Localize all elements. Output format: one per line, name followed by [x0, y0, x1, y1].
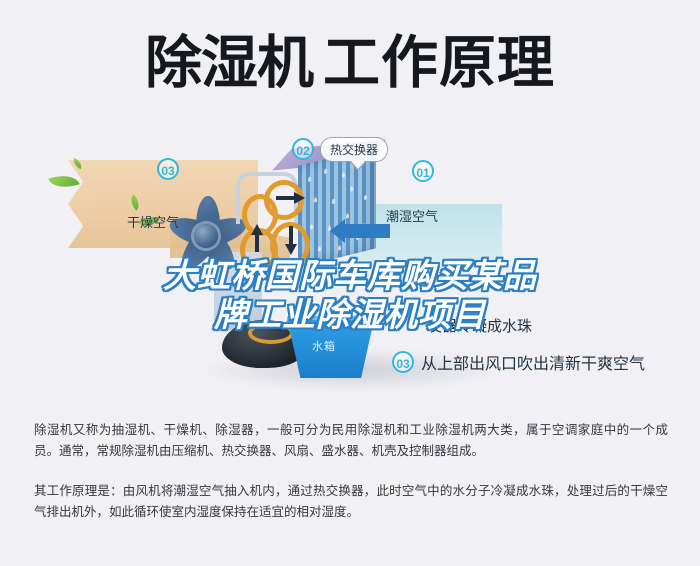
- step-badge-02: 02: [292, 138, 314, 160]
- step-label-heat-exchanger: 热交换器: [320, 137, 388, 162]
- page-title: 除湿机工作原理: [0, 32, 700, 94]
- title-band: 除湿机工作原理: [0, 0, 700, 118]
- humid-air-flow-band: [352, 118, 682, 268]
- overlay-line-2: 牌工业除湿机项目: [0, 295, 700, 334]
- step3-caption-row: 03 从上部出风口吹出清新干爽空气: [392, 350, 645, 374]
- description-paragraph-2: 其工作原理是：由风机将潮湿空气抽入机内，通过热交换器，此时空气中的水分子冷凝成水…: [34, 481, 668, 523]
- fan-hub: [194, 224, 218, 248]
- flow-arrow-stem: [289, 226, 293, 244]
- description-paragraph-1: 除湿机又称为抽湿机、干燥机、除湿器，一般可分为民用除湿机和工业除湿机两大类，属于…: [34, 420, 668, 462]
- page-title-part1: 除湿机: [145, 31, 313, 95]
- water-tank-label: 水箱: [312, 338, 336, 354]
- step3-caption-badge: 03: [392, 351, 414, 373]
- flow-arrow-stem: [255, 234, 259, 252]
- flow-arrow-up-icon: [251, 224, 263, 235]
- flow-arrow-down-icon: [285, 244, 297, 255]
- leaf-icon: [48, 170, 79, 193]
- air-inlet-arrow-icon: [344, 224, 390, 238]
- infographic-page: 除湿机工作原理: [0, 0, 700, 566]
- page-title-part2: 工作原理: [323, 31, 555, 95]
- flow-arrow-stem: [276, 196, 294, 200]
- overlay-watermark: 大虹桥国际车库购买某品 牌工业除湿机项目: [0, 256, 700, 334]
- flow-arrow-right-icon: [294, 192, 305, 204]
- step-badge-01: 01: [412, 160, 434, 182]
- step-label-dry-air: 干燥空气: [127, 212, 179, 231]
- step3-caption-text: 从上部出风口吹出清新干爽空气: [421, 350, 645, 374]
- overlay-line-1: 大虹桥国际车库购买某品: [163, 257, 537, 294]
- step-label-humid-air: 潮湿空气: [386, 206, 438, 225]
- step-badge-03: 03: [157, 158, 179, 180]
